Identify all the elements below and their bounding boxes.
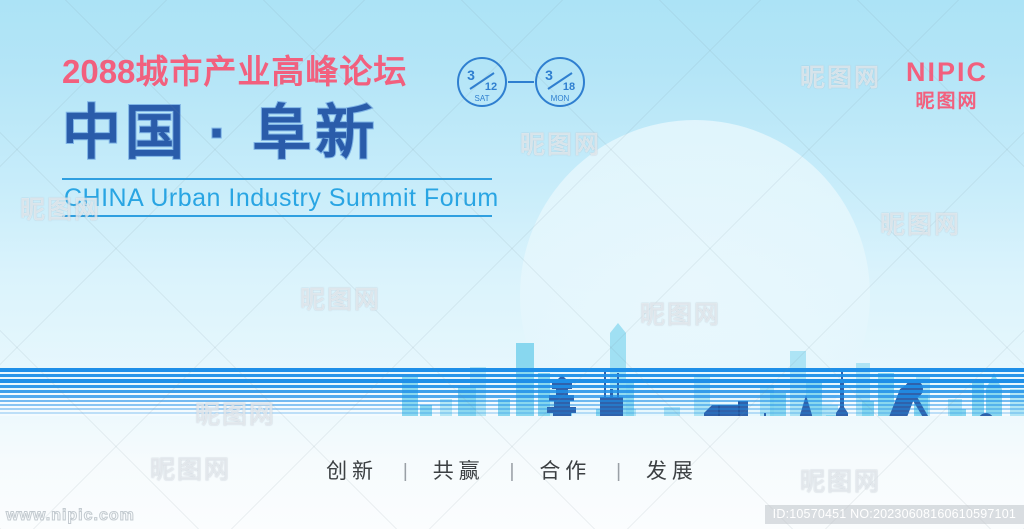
date-badge-end: 3 18 MON	[536, 58, 584, 106]
brand-name-en: NIPIC	[906, 57, 988, 87]
poster-canvas: 矿工 2088城市产业高峰论坛 中国 · 阜新 CHINA Urban Indu…	[0, 0, 1024, 529]
footer-bar: www.nipic.com ID:10570451 NO:20230608160…	[0, 503, 1024, 529]
date-badges: 3 12 SAT 3 18 MON	[456, 56, 586, 108]
kicker-year: 2088	[62, 53, 135, 90]
date-start-weekday: SAT	[475, 94, 490, 103]
brand-logo: NIPIC 昵图网	[906, 57, 988, 115]
date-badge-start: 3 12 SAT	[458, 58, 506, 106]
date-end-month: 3	[545, 67, 553, 83]
kicker-text: 城市产业高峰论坛	[135, 53, 407, 90]
page-title: 中国 · 阜新	[62, 100, 702, 166]
date-start-month: 3	[467, 67, 475, 83]
subtitle-rule-bottom	[62, 215, 492, 217]
kicker-line: 2088城市产业高峰论坛	[62, 52, 702, 92]
date-start-day: 12	[485, 81, 497, 93]
brand-name-cn: 昵图网	[906, 89, 988, 115]
slogan-separator-3: |	[616, 461, 621, 483]
footer-id-text: ID:10570451 NO:20230608160610597101	[765, 505, 1024, 524]
slogan-item-1: 创新	[326, 455, 378, 485]
slogan-item-2: 共赢	[433, 455, 485, 485]
slogan-separator-1: |	[403, 461, 408, 483]
subtitle: CHINA Urban Industry Summit Forum	[62, 180, 702, 215]
water-stripes	[0, 368, 1024, 418]
slogan-row: 创新 | 共赢 | 合作 | 发展	[0, 455, 1024, 485]
date-end-day: 18	[563, 81, 575, 93]
slogan-item-4: 发展	[646, 455, 698, 485]
slogan-separator-2: |	[510, 461, 515, 483]
header-block: 2088城市产业高峰论坛 中国 · 阜新 CHINA Urban Industr…	[62, 52, 702, 217]
date-end-weekday: MON	[551, 94, 570, 103]
slogan-item-3: 合作	[539, 455, 591, 485]
footer-site-url: www.nipic.com	[6, 507, 135, 525]
